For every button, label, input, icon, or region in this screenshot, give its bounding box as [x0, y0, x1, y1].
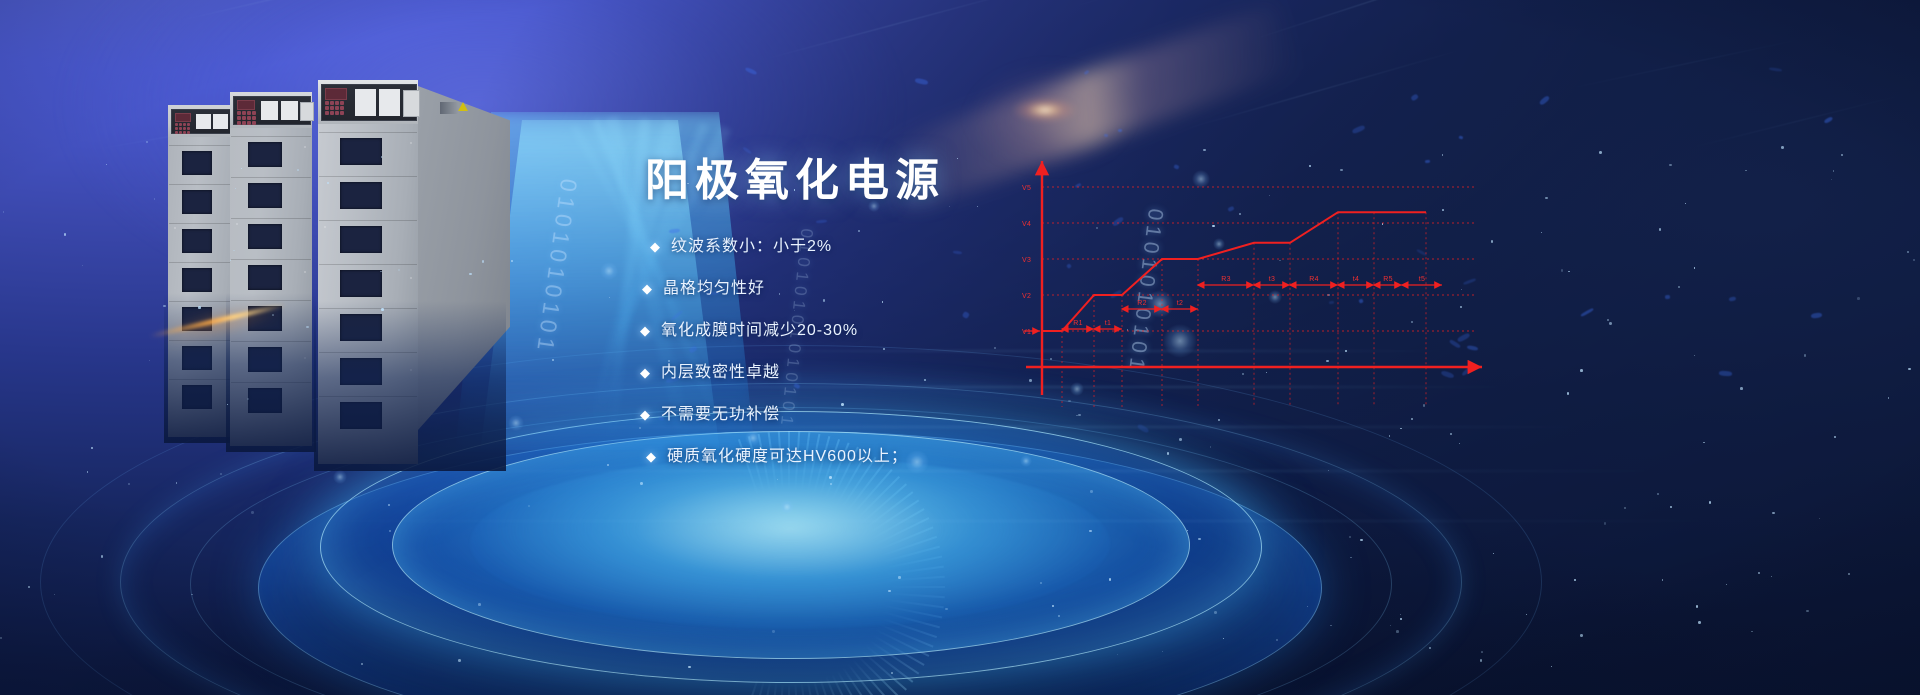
- banner-root: 0101010101 01010101010101 0101010101 V1V…: [0, 0, 1920, 695]
- vignette-overlay: [0, 0, 1920, 695]
